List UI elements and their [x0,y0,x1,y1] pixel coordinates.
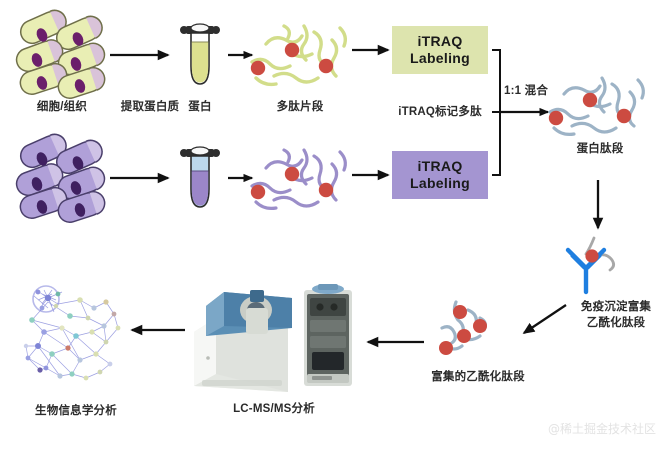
itraq-box-top-line1: iTRAQ [417,33,462,50]
protein-tube-top-illustration [178,22,222,90]
label-itraq-labeled-peptides: iTRAQ标记多肽 [384,105,496,121]
lc-msms-instrument-illustration [188,284,360,396]
itraq-box-bottom-line2: Labeling [410,175,470,192]
peptide-fragments-top-illustration [244,18,356,94]
watermark: @稀土掘金技术社区 [548,420,656,437]
merge-bracket [492,50,548,175]
label-peptide-fragments-top: 多肽片段 [244,100,356,116]
peptide-fragments-bottom-illustration [244,142,356,218]
cells-tissue-bottom-illustration [12,132,112,222]
label-protein-top: 蛋白 [172,100,228,116]
label-cells-tissue-top: 细胞/组织 [12,100,112,116]
itraq-box-top-line2: Labeling [410,50,470,67]
itraq-labeling-box-top[interactable]: iTRAQ Labeling [392,26,488,74]
label-enriched-acetylated-peptides: 富集的乙酰化肽段 [398,370,558,386]
label-lc-msms-analysis: LC-MS/MS分析 [194,402,354,418]
itraq-labeling-box-bottom[interactable]: iTRAQ Labeling [392,151,488,199]
protein-peptides-mixed-illustration [544,72,656,144]
label-ip-enrichment: 免疫沉淀富集 乙酰化肽段 [572,300,660,331]
label-bioinformatics-analysis: 生物信息学分析 [8,404,144,420]
enriched-acetylated-peptides-illustration [432,298,528,368]
antibody-immunoprecipitation-illustration [556,234,634,302]
label-protein-peptides: 蛋白肽段 [544,142,656,158]
protein-tube-bottom-illustration [178,145,222,213]
bioinformatics-network-illustration [18,282,130,394]
itraq-box-bottom-line1: iTRAQ [417,158,462,175]
cells-tissue-top-illustration [12,8,112,98]
arrow-antibody-to-enriched [524,305,566,333]
